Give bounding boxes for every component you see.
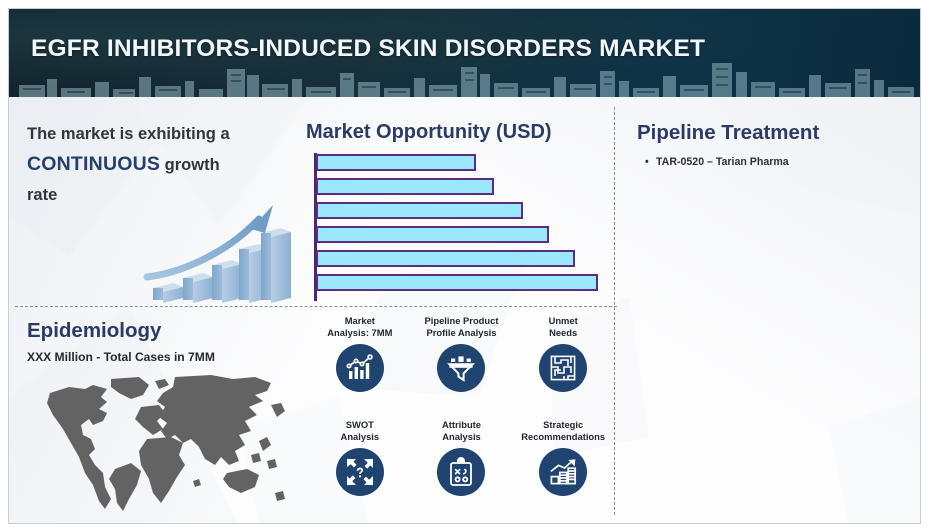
growth-bar-chart-icon [139, 195, 299, 305]
capability-item-attribute-analysis[interactable]: Attribute Analysis [411, 417, 513, 521]
growth-line-1: The market is exhibiting a [27, 125, 230, 143]
pipeline-treatment-title: Pipeline Treatment [637, 121, 819, 145]
capability-item-strategic-recommendations[interactable]: Strategic Recommendations [512, 417, 614, 521]
growth-line-3: rate [27, 186, 57, 204]
capability-label: Pipeline Product Profile Analysis [425, 315, 499, 340]
chart-bar [316, 154, 476, 171]
capability-item-swot-analysis[interactable]: SWOT Analysis [309, 417, 411, 521]
capability-item-market-analysis[interactable]: Market Analysis: 7MM [309, 313, 411, 417]
header-banner: EGFR INHIBITORS-INDUCED SKIN DISORDERS M… [9, 9, 921, 97]
capability-label: Attribute Analysis [442, 419, 481, 444]
capability-label: Unmet Needs [549, 315, 578, 340]
chart-bar [316, 178, 494, 195]
capability-item-pipeline-product-profile-analysis[interactable]: Pipeline Product Profile Analysis [411, 313, 513, 417]
capability-label: SWOT Analysis [341, 419, 380, 444]
chart-bar [316, 250, 575, 267]
growth-line-2-rest: growth [160, 156, 220, 174]
chart-bar [316, 274, 598, 291]
vertical-divider [614, 107, 615, 515]
market-opportunity-chart [314, 153, 609, 301]
chart-bar [316, 226, 549, 243]
chart-bar [316, 202, 523, 219]
horizontal-divider [15, 306, 617, 307]
list-item-label: TAR-0520 – Tarian Pharma [656, 155, 789, 170]
epidemiology-title: Epidemiology [27, 319, 161, 343]
pipeline-treatment-list: • TAR-0520 – Tarian Pharma [645, 155, 895, 170]
bar-chart-arrow-up-icon [539, 448, 587, 496]
world-map-icon [23, 369, 309, 517]
bullet-icon: • [645, 155, 656, 170]
body-area: The market is exhibiting a CONTINUOUS gr… [9, 97, 921, 524]
infographic-card: EGFR INHIBITORS-INDUCED SKIN DISORDERS M… [8, 8, 921, 524]
capability-item-unmet-needs[interactable]: Unmet Needs [512, 313, 614, 417]
page-title: EGFR INHIBITORS-INDUCED SKIN DISORDERS M… [31, 35, 705, 63]
funnel-filter-icon [437, 344, 485, 392]
capability-label: Market Analysis: 7MM [327, 315, 392, 340]
clipboard-checklist-icon [437, 448, 485, 496]
bar-chart-line-icon [336, 344, 384, 392]
four-arrows-question-icon [336, 448, 384, 496]
market-opportunity-title: Market Opportunity (USD) [306, 121, 552, 144]
capability-label: Strategic Recommendations [521, 419, 605, 444]
growth-highlight: CONTINUOUS [27, 153, 160, 175]
capability-icon-grid: Market Analysis: 7MM [309, 313, 614, 521]
maze-icon [539, 344, 587, 392]
list-item: • TAR-0520 – Tarian Pharma [645, 155, 895, 170]
epidemiology-subtitle: XXX Million - Total Cases in 7MM [27, 350, 215, 364]
